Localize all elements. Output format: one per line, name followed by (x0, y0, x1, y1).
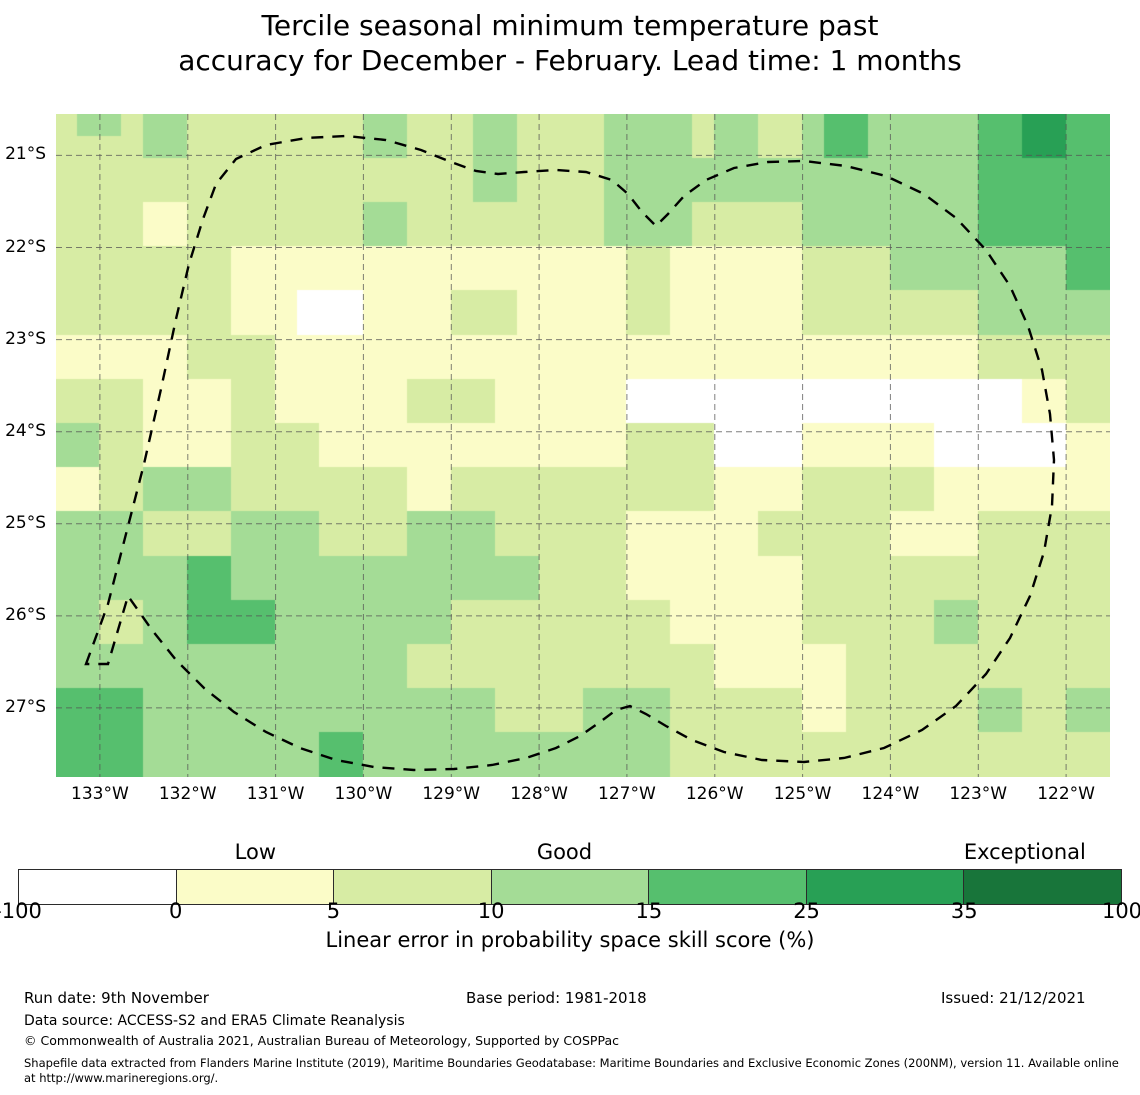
colorbar-segment[interactable] (963, 870, 1121, 904)
colorbar-axis-label: Linear error in probability space skill … (0, 928, 1140, 952)
x-axis-tick-label: 131°W (236, 786, 316, 803)
x-axis-tick-label: 128°W (499, 786, 579, 803)
colorbar-tick-label: -100 (0, 901, 78, 922)
y-axis-tick-label: 26°S (0, 607, 46, 624)
y-axis-tick-label: 21°S (0, 146, 46, 163)
y-axis-tick-label: 24°S (0, 423, 46, 440)
x-axis-tick-label: 133°W (60, 786, 140, 803)
base-period-text: Base period: 1981-2018 (466, 989, 647, 1007)
colorbar-segment[interactable] (176, 870, 334, 904)
x-axis-tick-label: 126°W (675, 786, 755, 803)
page-title: Tercile seasonal minimum temperature pas… (0, 8, 1140, 78)
skill-score-heatmap (56, 114, 1110, 777)
colorbar-category-label: Good (444, 842, 684, 863)
x-axis-tick-label: 125°W (763, 786, 843, 803)
y-axis-tick-label: 23°S (0, 331, 46, 348)
x-axis-tick-label: 124°W (850, 786, 930, 803)
copyright-text: © Commonwealth of Australia 2021, Austra… (24, 1033, 619, 1048)
colorbar-tick-label: 15 (589, 901, 709, 922)
colorbar-segment[interactable] (648, 870, 806, 904)
colorbar-segment[interactable] (19, 870, 176, 904)
colorbar-tick-label: 35 (904, 901, 1024, 922)
shapefile-attribution-text: Shapefile data extracted from Flanders M… (24, 1056, 1119, 1086)
y-axis-tick-label: 22°S (0, 239, 46, 256)
colorbar-segment[interactable] (333, 870, 491, 904)
colorbar-category-label: Low (135, 842, 375, 863)
issued-date-text: Issued: 21/12/2021 (941, 989, 1086, 1007)
map-plot-area (56, 114, 1110, 777)
colorbar-tick-label: 5 (273, 901, 393, 922)
x-axis-tick-label: 122°W (1026, 786, 1106, 803)
colorbar-tick-label: 100 (1062, 901, 1140, 922)
x-axis-tick-label: 130°W (323, 786, 403, 803)
x-axis-tick-label: 127°W (587, 786, 667, 803)
data-source-text: Data source: ACCESS-S2 and ERA5 Climate … (24, 1013, 405, 1030)
colorbar-category-label: Exceptional (905, 842, 1140, 863)
colorbar-segment[interactable] (491, 870, 649, 904)
x-axis-tick-label: 129°W (411, 786, 491, 803)
y-axis-tick-label: 27°S (0, 699, 46, 716)
y-axis-tick-label: 25°S (0, 515, 46, 532)
colorbar-tick-label: 25 (747, 901, 867, 922)
x-axis-tick-label: 132°W (148, 786, 228, 803)
run-date-text: Run date: 9th November (24, 989, 209, 1007)
x-axis-tick-label: 123°W (938, 786, 1018, 803)
colorbar-segment[interactable] (806, 870, 964, 904)
colorbar-tick-label: 10 (431, 901, 551, 922)
footer-meta-row: Run date: 9th November Base period: 1981… (0, 989, 1140, 1011)
colorbar-tick-label: 0 (116, 901, 236, 922)
